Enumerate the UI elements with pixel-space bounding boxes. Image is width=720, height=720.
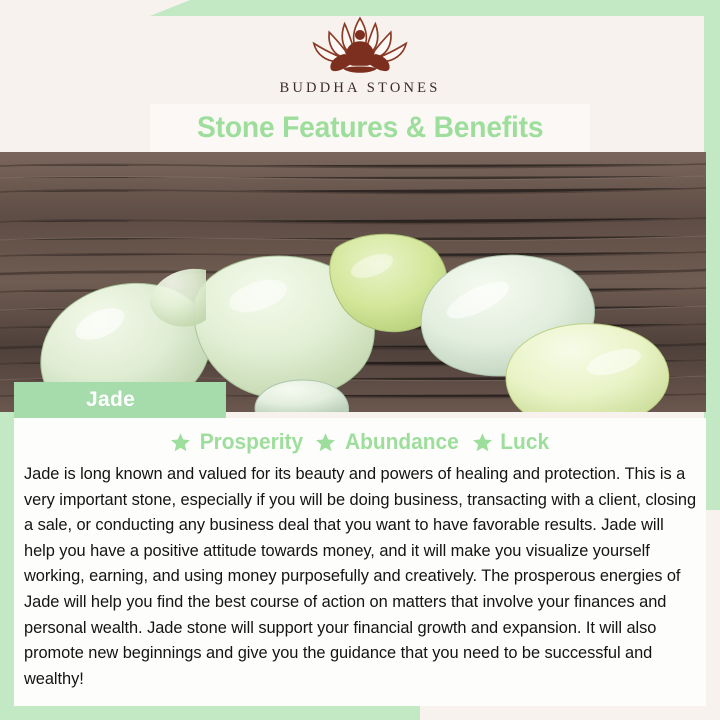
keyword-label: Luck <box>500 429 549 455</box>
frame-band-left <box>0 405 14 705</box>
stone-description: Jade is long known and valued for its be… <box>22 462 698 692</box>
keyword-label: Abundance <box>345 429 459 455</box>
star-icon <box>170 432 191 453</box>
lotus-meditation-figure-icon <box>290 14 430 78</box>
keyword-luck: Luck <box>472 429 550 455</box>
stone-name: Jade <box>86 388 135 412</box>
stone-photo <box>0 152 706 412</box>
frame-band-right-lower <box>704 390 720 510</box>
keyword-label: Prosperity <box>199 429 302 455</box>
keyword-prosperity: Prosperity <box>170 429 306 455</box>
star-icon <box>472 432 493 453</box>
brand-logo: BUDDHA STONES <box>0 14 720 110</box>
keyword-abundance: Abundance <box>315 429 462 455</box>
stone-keywords: Prosperity Abundance Luck <box>22 424 698 460</box>
star-icon <box>315 432 336 453</box>
title-banner: Stone Features & Benefits <box>150 104 590 152</box>
brand-name: BUDDHA STONES <box>280 80 441 97</box>
frame-band-bottom <box>0 704 420 720</box>
stone-name-band: Jade <box>14 382 226 418</box>
stone-content-panel: Prosperity Abundance Luck Jade is long k… <box>14 418 706 706</box>
page-title: Stone Features & Benefits <box>197 111 543 145</box>
